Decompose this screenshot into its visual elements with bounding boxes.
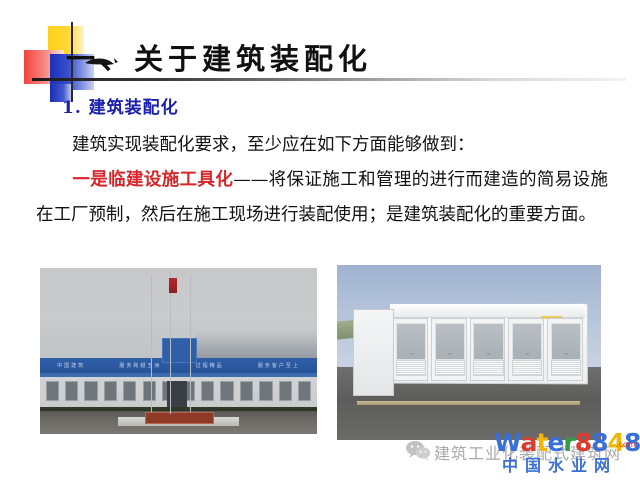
bay-handle (564, 353, 567, 355)
photo-left-flagpole-1 (151, 276, 152, 412)
watermark-water8848-logo: Water8848 .com 中国水业网 (494, 428, 640, 474)
bay-louver (551, 360, 581, 377)
photo-prefab-office-building: 中国建筑 服务跨越五洲 过程精品 服务客户至上 (40, 268, 317, 434)
page-title: 一、关于建筑装配化 (66, 36, 372, 78)
photo-right-module-row (353, 304, 585, 402)
photo-right-end-panel (353, 309, 394, 395)
watermark-logo-dotcom: .com (616, 440, 636, 449)
bay-louver (396, 360, 426, 377)
bay-handle (487, 353, 490, 355)
photo-right-door-bays (392, 318, 582, 381)
body-lead-sentence: 建筑实现装配化要求，至少应在如下方面能够做到： (72, 135, 475, 155)
photo-right-bay (547, 318, 583, 381)
photo-left-skyline (195, 331, 317, 361)
wechat-icon (405, 440, 431, 460)
photo-right-bay (392, 318, 428, 381)
bay-handle (410, 353, 413, 355)
photo-left-flagpole-3 (190, 276, 191, 412)
photo-left-national-flag (169, 278, 177, 293)
photo-left-logo-sign (162, 338, 197, 363)
section-subtitle: 1. 建筑装配化 (62, 93, 179, 118)
body-keyword: 一是临建设施工具化 (72, 170, 233, 190)
bay-handle (526, 353, 529, 355)
bay-louver (473, 360, 503, 377)
photo-container-modular-units (337, 265, 601, 440)
bay-louver (435, 360, 465, 377)
title-divider (32, 78, 626, 81)
banner-seg-3: 过程精品 (196, 362, 224, 369)
banner-seg-2: 服务跨越五洲 (119, 362, 161, 369)
watermark-logo-chinese: 中国水业网 (502, 452, 617, 476)
photo-right-bay (431, 318, 467, 381)
photo-left-stone-plaque (145, 412, 213, 424)
bay-louver (512, 360, 542, 377)
photo-right-bay (508, 318, 544, 381)
banner-seg-4: 服务客户至上 (258, 362, 300, 369)
bay-handle (448, 353, 451, 355)
slide-canvas: 一、关于建筑装配化 1. 建筑装配化 建筑实现装配化要求，至少应在如下方面能够做… (0, 0, 640, 480)
photo-right-bay (470, 318, 506, 381)
photo-right-timber-skid (357, 401, 580, 406)
photo-left-wall-stripe (40, 373, 317, 377)
banner-seg-1: 中国建筑 (57, 362, 85, 369)
body-paragraph: 建筑实现装配化要求，至少应在如下方面能够做到： 一是临建设施工具化——将保证施工… (36, 128, 608, 233)
